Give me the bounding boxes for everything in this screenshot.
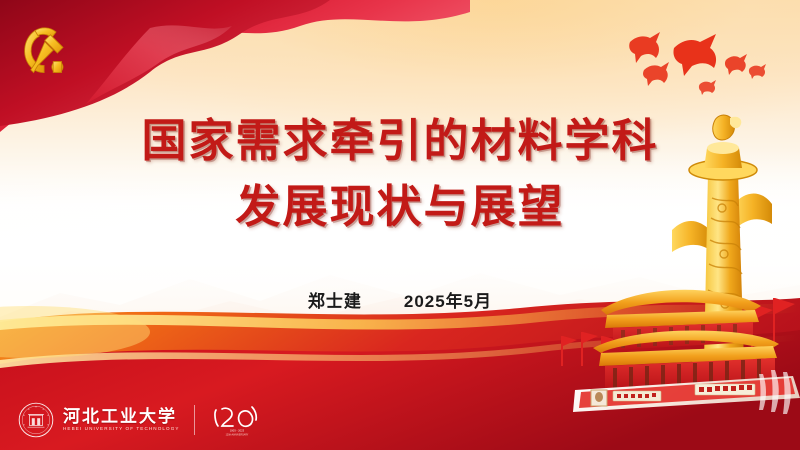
- anniversary-years-label: 1903 - 2023: [229, 429, 244, 433]
- university-name-cn: 河北工业大学: [63, 408, 180, 425]
- university-seal-icon: [18, 402, 54, 438]
- presentation-date: 2025年5月: [404, 287, 492, 312]
- peace-doves-icon: [612, 18, 772, 98]
- title-line-2: 发展现状与展望: [0, 174, 800, 240]
- logo-divider: [194, 405, 195, 435]
- anniversary-caption: 120th ANNIVERSARY: [225, 434, 248, 437]
- footer-logo-bar: 河北工业大学 HEBEI UNIVERSITY OF TECHNOLOGY 19…: [18, 400, 265, 440]
- university-name-en: HEBEI UNIVERSITY OF TECHNOLOGY: [63, 427, 180, 432]
- slide-title: 国家需求牵引的材料学科 发展现状与展望: [0, 108, 800, 239]
- university-name-block: 河北工业大学 HEBEI UNIVERSITY OF TECHNOLOGY: [63, 408, 180, 432]
- presentation-slide: 国家需求牵引的材料学科 发展现状与展望 郑士建 2025年5月 河北工业大学: [0, 0, 800, 450]
- cpc-party-emblem-icon: [14, 17, 84, 89]
- presenter-name: 郑士建: [308, 287, 362, 312]
- slide-subtitle: 郑士建 2025年5月: [0, 287, 800, 312]
- title-line-1: 国家需求牵引的材料学科: [0, 108, 800, 174]
- anniversary-120-logo: 1903 - 2023 120th ANNIVERSARY: [209, 400, 265, 440]
